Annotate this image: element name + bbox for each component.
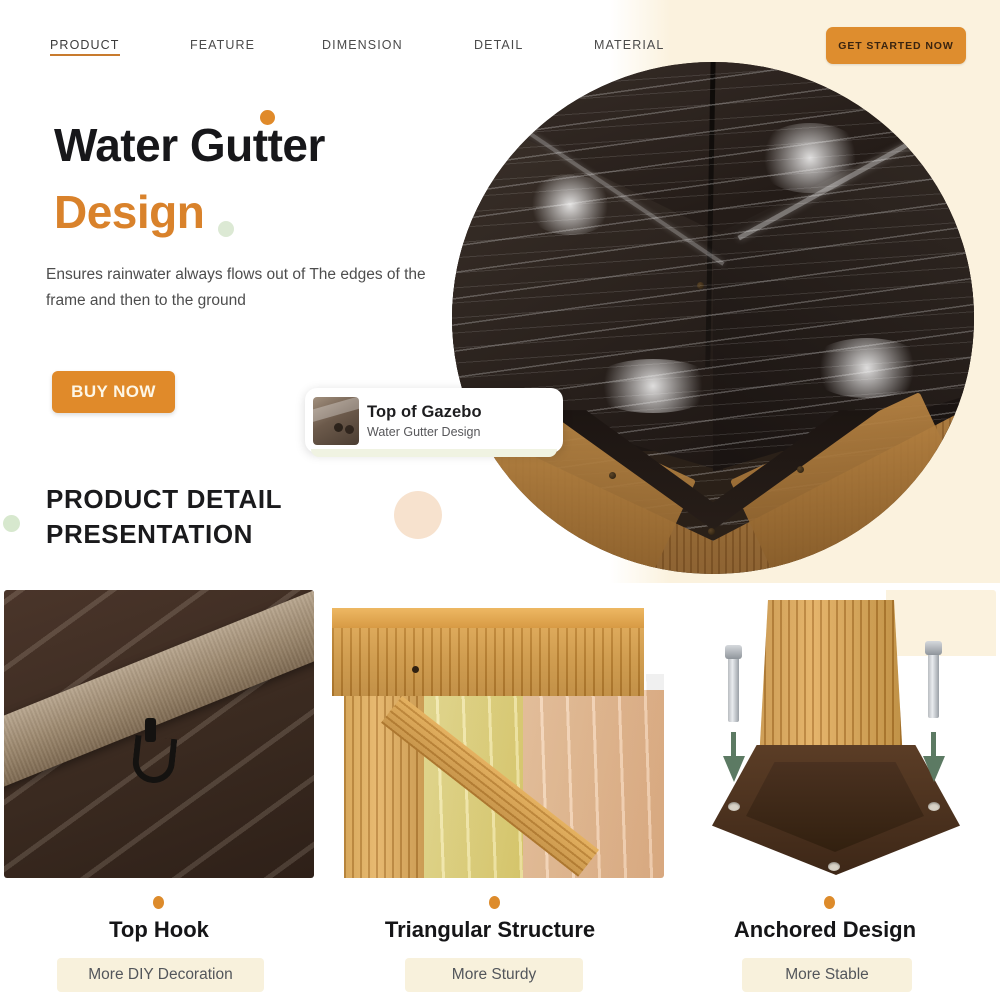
anchor-hole bbox=[728, 802, 740, 811]
caption-dot-icon bbox=[153, 896, 164, 909]
section-title-line2: PRESENTATION bbox=[46, 517, 282, 552]
nav-item-material[interactable]: MATERIAL bbox=[594, 38, 664, 52]
water-splash bbox=[525, 175, 615, 235]
anchor-bolt bbox=[928, 652, 939, 718]
frame-screw bbox=[708, 528, 715, 535]
feature-caption-top-hook: More DIY Decoration bbox=[57, 958, 264, 992]
beam-cap bbox=[332, 608, 644, 628]
orange-dot-icon bbox=[260, 110, 275, 125]
feature-image-top-hook bbox=[4, 590, 314, 878]
arrow-stem bbox=[931, 732, 936, 758]
arrow-stem bbox=[731, 732, 736, 758]
peach-circle-decoration bbox=[394, 491, 442, 539]
info-card-title: Top of Gazebo bbox=[367, 403, 482, 422]
top-navigation: PRODUCT FEATURE DIMENSION DETAIL MATERIA… bbox=[0, 30, 700, 60]
down-arrow-icon bbox=[923, 756, 945, 782]
feature-title-triangular-structure: Triangular Structure bbox=[340, 917, 640, 943]
get-started-button[interactable]: GET STARTED NOW bbox=[826, 27, 966, 64]
hero-product-image bbox=[452, 62, 974, 574]
green-circle-decoration bbox=[3, 515, 20, 532]
nav-item-detail[interactable]: DETAIL bbox=[474, 38, 523, 52]
page-title-line1: Water Gutter bbox=[54, 118, 325, 172]
green-dot-icon bbox=[218, 221, 234, 237]
info-card-thumbnail bbox=[313, 397, 359, 445]
anchor-bolt bbox=[728, 656, 739, 722]
feature-image-anchored-design bbox=[676, 590, 996, 878]
section-title-line1: PRODUCT DETAIL bbox=[46, 482, 282, 517]
feature-caption-anchored-design: More Stable bbox=[742, 958, 912, 992]
anchor-hole bbox=[928, 802, 940, 811]
anchor-hole bbox=[828, 862, 840, 871]
nav-item-dimension[interactable]: DIMENSION bbox=[322, 38, 403, 52]
page-title-line2: Design bbox=[54, 185, 204, 239]
caption-dot-icon bbox=[824, 896, 835, 909]
hero-image-content bbox=[452, 62, 974, 574]
feature-title-anchored-design: Anchored Design bbox=[680, 917, 970, 943]
info-card-text: Top of Gazebo Water Gutter Design bbox=[367, 403, 482, 439]
hero-subtext: Ensures rainwater always flows out of Th… bbox=[46, 262, 466, 313]
caption-dot-icon bbox=[489, 896, 500, 909]
nav-item-product[interactable]: PRODUCT bbox=[50, 38, 120, 52]
beam-screw bbox=[412, 666, 419, 673]
water-splash bbox=[755, 123, 865, 193]
info-card-subtitle: Water Gutter Design bbox=[367, 425, 482, 439]
feature-caption-triangular-structure: More Sturdy bbox=[405, 958, 583, 992]
nav-item-feature[interactable]: FEATURE bbox=[190, 38, 255, 52]
down-arrow-icon bbox=[723, 756, 745, 782]
section-title: PRODUCT DETAIL PRESENTATION bbox=[46, 482, 282, 552]
feature-image-triangular-structure bbox=[328, 590, 664, 878]
water-splash bbox=[588, 359, 718, 413]
frame-screw bbox=[609, 472, 616, 479]
feature-title-top-hook: Top Hook bbox=[14, 917, 304, 943]
info-card[interactable]: Top of Gazebo Water Gutter Design bbox=[305, 388, 563, 453]
buy-now-button[interactable]: BUY NOW bbox=[52, 371, 175, 413]
